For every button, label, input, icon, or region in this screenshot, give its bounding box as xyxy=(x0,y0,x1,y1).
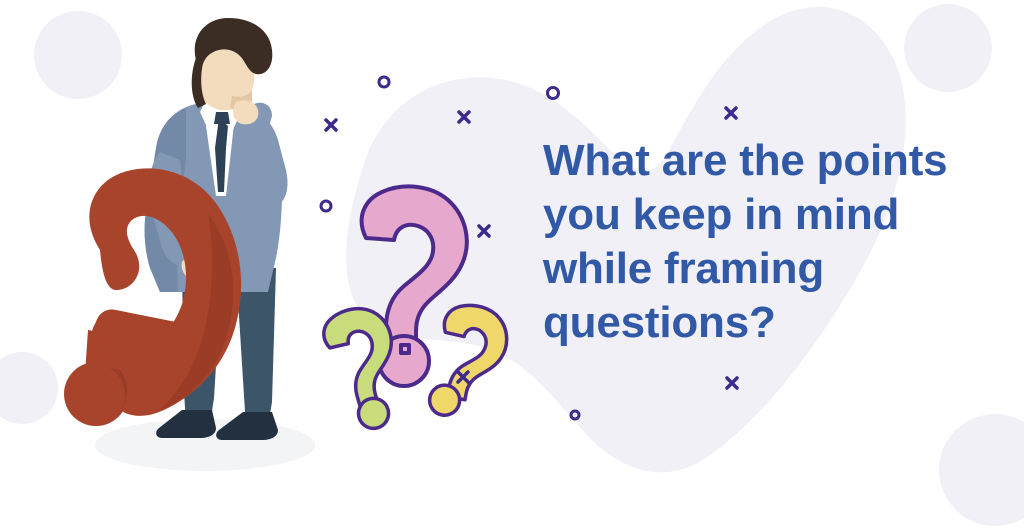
mark-o-3 xyxy=(321,201,331,211)
page-headline: What are the points you keep in mind whi… xyxy=(543,134,1013,350)
mark-x-1 xyxy=(326,120,336,130)
mark-x-2 xyxy=(459,112,469,122)
mark-o-1 xyxy=(379,77,389,87)
question-framing-banner: What are the points you keep in mind whi… xyxy=(0,0,1024,530)
mark-x-6 xyxy=(458,372,468,382)
mark-x-4 xyxy=(479,226,489,236)
mark-x-5 xyxy=(727,378,737,388)
mark-o-2 xyxy=(548,88,559,99)
mark-x-3 xyxy=(726,108,736,118)
mark-o-4 xyxy=(571,411,579,419)
